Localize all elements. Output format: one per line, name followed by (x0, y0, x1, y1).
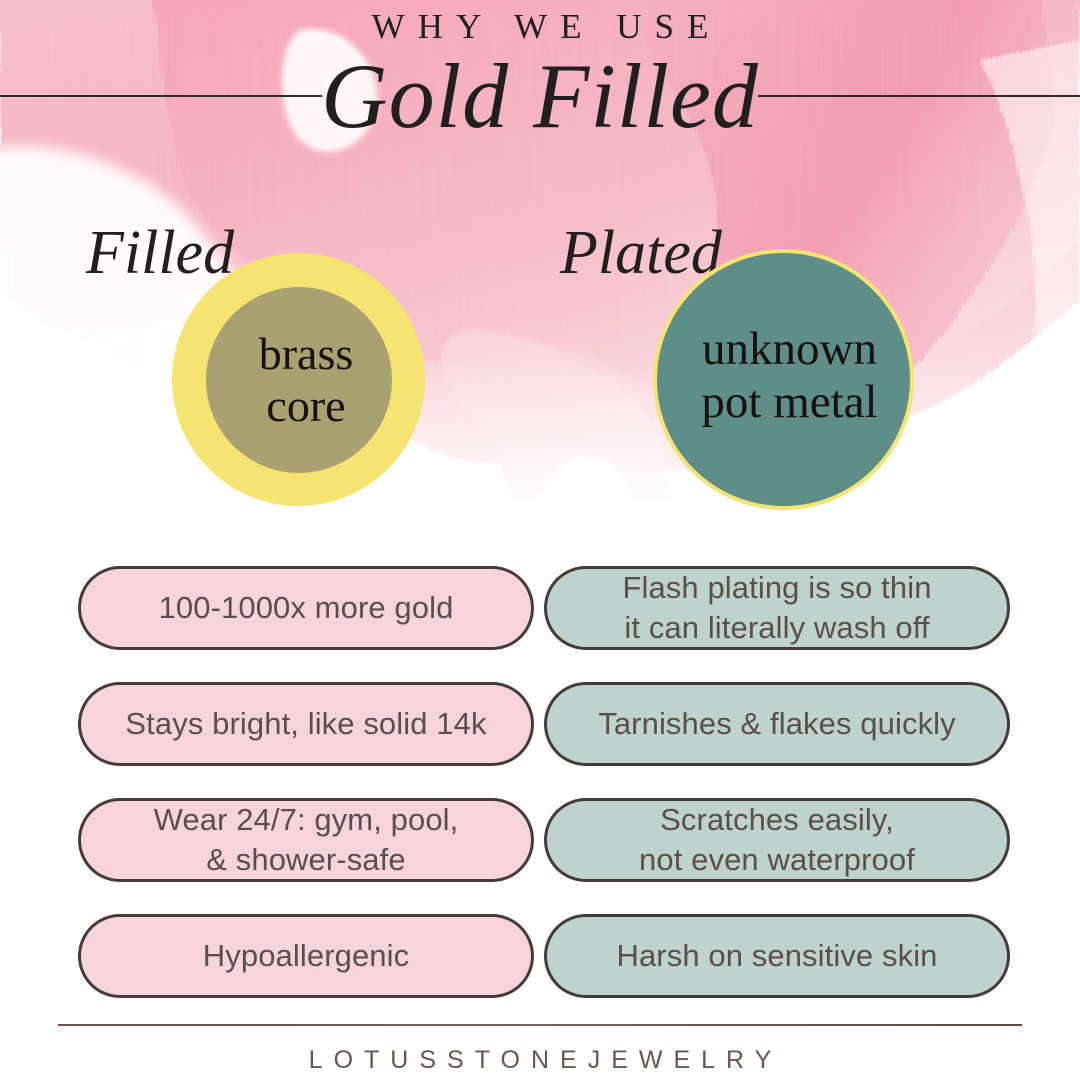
gold-filled-core-line-2: core (259, 380, 354, 432)
filled-benefit-line-1: Wear 24/7: gym, pool, (154, 800, 459, 840)
plated-drawback-pill: Tarnishes & flakes quickly (544, 682, 1010, 766)
plated-drawback-text: Scratches easily, not even waterproof (639, 800, 915, 881)
plated-drawback-line-2: it can literally wash off (622, 608, 931, 648)
header-eyebrow: WHY WE USE (0, 6, 1080, 48)
infographic-canvas: WHY WE USE Gold Filled Filled Plated bra… (0, 0, 1080, 1080)
filled-benefit-line-1: Stays bright, like solid 14k (125, 704, 486, 744)
comparison-row: Stays bright, like solid 14k Tarnishes &… (0, 682, 1080, 766)
footer-brand-wordmark: LOTUSSTONEJEWELRY (0, 1046, 1080, 1075)
plated-drawback-text: Harsh on sensitive skin (616, 936, 937, 976)
comparison-list: 100-1000x more gold Flash plating is so … (0, 566, 1080, 1030)
column-label-filled: Filled (86, 222, 234, 284)
gold-plated-core-line-1: unknown (701, 323, 877, 376)
comparison-row: Wear 24/7: gym, pool, & shower-safe Scra… (0, 798, 1080, 882)
comparison-row: 100-1000x more gold Flash plating is so … (0, 566, 1080, 650)
plated-drawback-line-2: not even waterproof (639, 840, 915, 880)
header-wordmark: Gold Filled (0, 44, 1080, 148)
filled-benefit-line-1: 100-1000x more gold (159, 588, 454, 628)
comparison-row: Hypoallergenic Harsh on sensitive skin (0, 914, 1080, 998)
filled-benefit-text: Stays bright, like solid 14k (125, 704, 486, 744)
filled-benefit-pill: Wear 24/7: gym, pool, & shower-safe (78, 798, 534, 882)
header: WHY WE USE Gold Filled (0, 0, 1080, 160)
plated-drawback-line-1: Tarnishes & flakes quickly (598, 704, 956, 744)
footer-rule (58, 1024, 1022, 1026)
filled-benefit-text: Hypoallergenic (203, 936, 409, 976)
plated-drawback-line-1: Scratches easily, (639, 800, 915, 840)
filled-benefit-text: Wear 24/7: gym, pool, & shower-safe (154, 800, 459, 881)
plated-drawback-line-1: Harsh on sensitive skin (616, 936, 937, 976)
column-label-plated: Plated (560, 222, 722, 284)
gold-filled-core-line-1: brass (259, 328, 354, 380)
gold-plated-core-text: unknown pot metal (701, 323, 877, 428)
gold-filled-core-disc: brass core (206, 287, 392, 473)
filled-benefit-pill: Stays bright, like solid 14k (78, 682, 534, 766)
gold-plated-disc: unknown pot metal (653, 249, 914, 510)
filled-benefit-pill: Hypoallergenic (78, 914, 534, 998)
plated-drawback-pill: Harsh on sensitive skin (544, 914, 1010, 998)
gold-filled-core-text: brass core (259, 328, 354, 431)
plated-drawback-pill: Scratches easily, not even waterproof (544, 798, 1010, 882)
filled-benefit-line-1: Hypoallergenic (203, 936, 409, 976)
filled-benefit-pill: 100-1000x more gold (78, 566, 534, 650)
plated-drawback-pill: Flash plating is so thin it can literall… (544, 566, 1010, 650)
gold-plated-core-line-2: pot metal (701, 376, 877, 429)
filled-benefit-line-2: & shower-safe (154, 840, 459, 880)
plated-drawback-text: Flash plating is so thin it can literall… (622, 568, 931, 649)
plated-drawback-text: Tarnishes & flakes quickly (598, 704, 956, 744)
plated-drawback-line-1: Flash plating is so thin (622, 568, 931, 608)
footer: LOTUSSTONEJEWELRY (0, 1018, 1080, 1080)
filled-benefit-text: 100-1000x more gold (159, 588, 454, 628)
